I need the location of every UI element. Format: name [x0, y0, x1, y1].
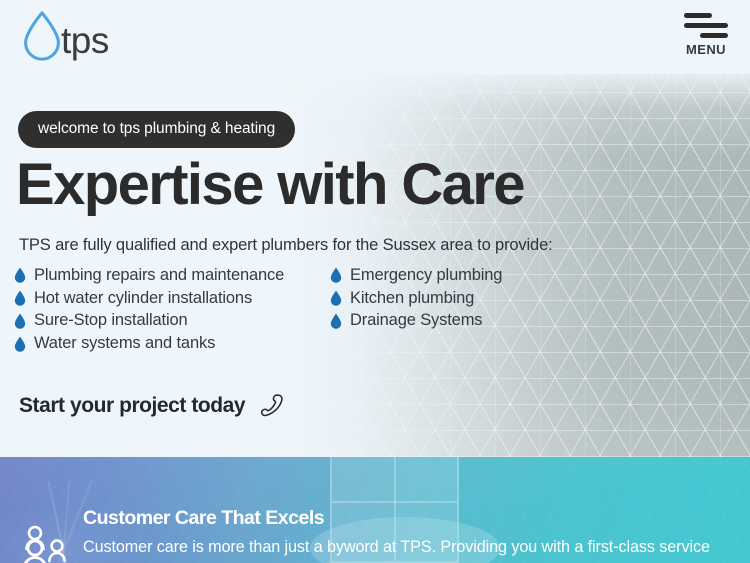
- menu-toggle-button[interactable]: MENU: [676, 13, 736, 57]
- hamburger-menu-icon: [684, 13, 728, 38]
- customer-care-content: Customer Care That Excels Customer care …: [0, 0, 750, 563]
- page-root: tps MENU welcome to tps plumbing & heati…: [0, 0, 750, 563]
- menu-label: MENU: [676, 42, 736, 57]
- brand-logo[interactable]: tps: [18, 9, 109, 63]
- site-header: tps MENU: [0, 0, 750, 74]
- water-drop-icon: [18, 9, 66, 63]
- brand-wordmark: tps: [61, 22, 109, 59]
- people-group-icon: [19, 524, 77, 563]
- care-title: Customer Care That Excels: [83, 507, 324, 530]
- care-body-text: Customer care is more than just a byword…: [83, 535, 723, 563]
